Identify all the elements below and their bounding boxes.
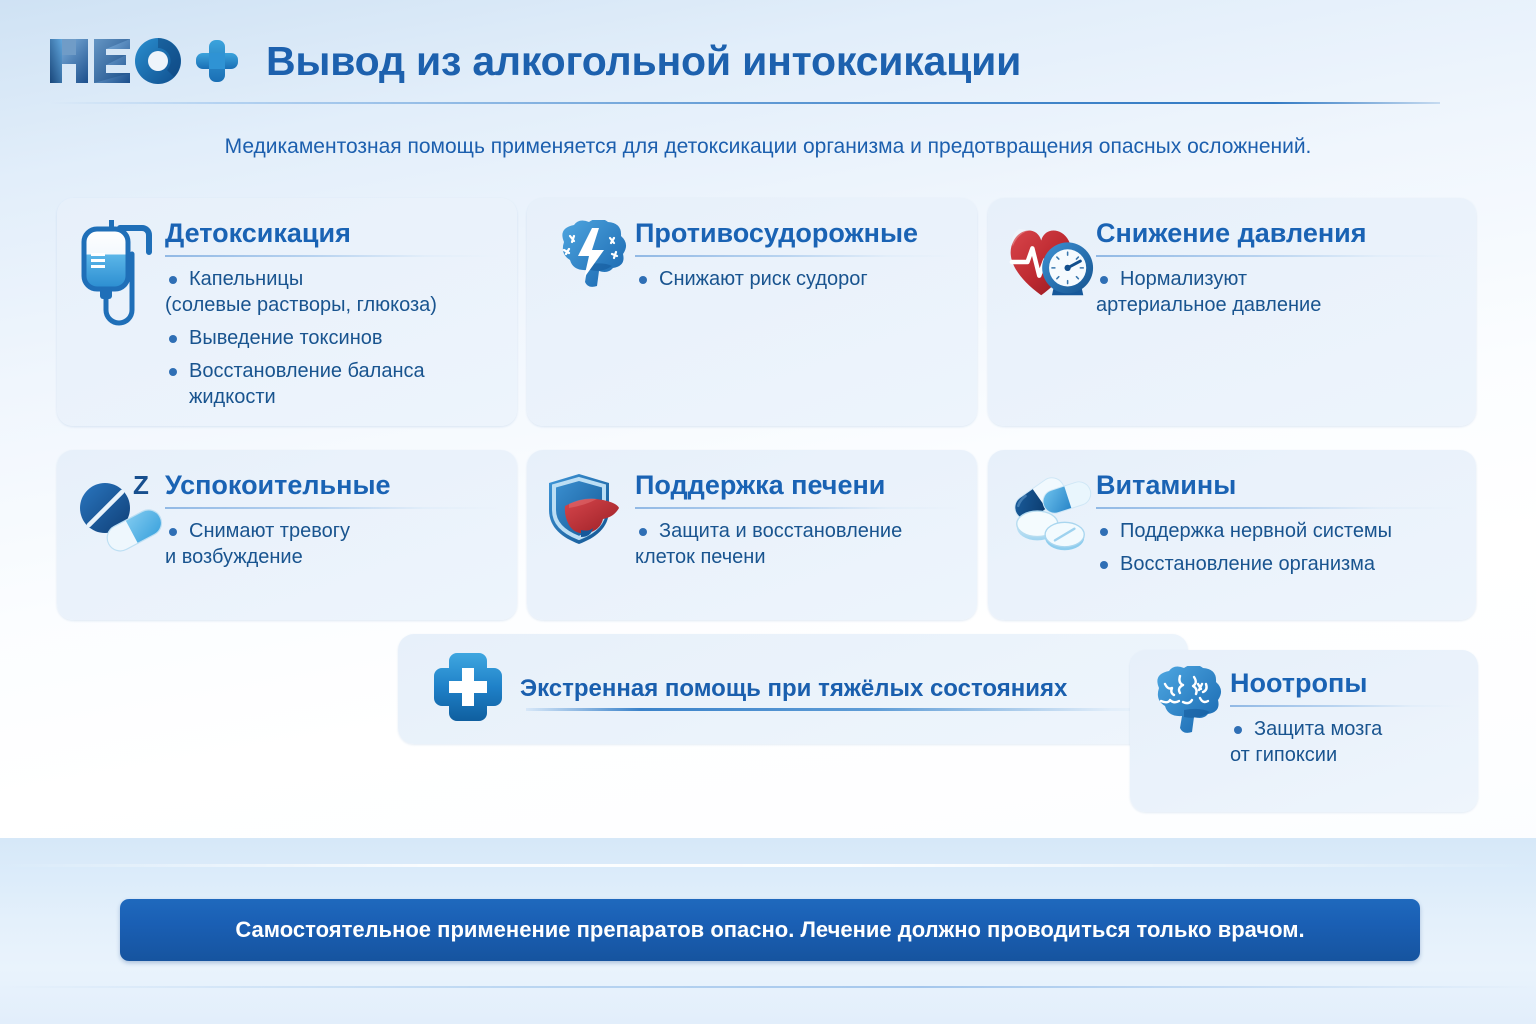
brain-icon	[1138, 664, 1230, 800]
pill-capsule-sleep-icon: Z	[73, 466, 165, 606]
vitamin-pills-icon	[1004, 466, 1096, 606]
card-vitamins[interactable]: Витамины Поддержка нервной системы Восст…	[988, 450, 1476, 620]
card-liver-support[interactable]: Поддержка печени Защита и восстановление…	[527, 450, 977, 620]
list-item: Восстановление организма	[1096, 551, 1458, 577]
list-item: Выведение токсинов	[165, 325, 499, 351]
card-bullet-list: Капельницы (солевые растворы, глюкоза) В…	[165, 266, 499, 410]
list-item: Снимают тревогу и возбуждение	[165, 518, 499, 570]
header-divider	[50, 102, 1440, 104]
bullet-text: Капельницы	[189, 268, 303, 290]
emergency-help-text: Экстренная помощь при тяжёлых состояниях	[520, 675, 1067, 703]
list-item: Нормализуют артериальное давление	[1096, 266, 1458, 318]
card-title: Противосудорожные	[635, 218, 959, 248]
medical-cross-icon	[432, 651, 504, 728]
neo-plus-logo	[50, 33, 240, 89]
bullet-text: Поддержка нервной системы	[1120, 520, 1392, 542]
svg-text:Z: Z	[133, 472, 149, 500]
card-bullet-list: Снижают риск судорог	[635, 266, 959, 292]
iv-drip-icon	[73, 214, 165, 412]
card-title: Детоксикация	[165, 218, 499, 248]
title-divider	[1230, 705, 1462, 707]
list-item: Восстановление баланса жидкости	[165, 358, 499, 410]
card-title: Витамины	[1096, 470, 1458, 500]
bullet-subtext: (солевые растворы, глюкоза)	[165, 292, 499, 318]
card-title: Снижение давления	[1096, 218, 1458, 248]
bullet-subtext: клеток печени	[635, 544, 959, 570]
page-subtitle: Медикаментозная помощь применяется для д…	[0, 135, 1536, 159]
list-item: Поддержка нервной системы	[1096, 518, 1458, 544]
card-bullet-list: Нормализуют артериальное давление	[1096, 266, 1458, 318]
bullet-text: Выведение токсинов	[189, 327, 383, 349]
card-detoxification[interactable]: Детоксикация Капельницы (солевые раствор…	[57, 198, 517, 426]
title-divider	[635, 255, 959, 257]
card-bullet-list: Защита и восстановление клеток печени	[635, 518, 959, 570]
card-bullet-list: Защита мозга от гипоксии	[1230, 716, 1462, 768]
bullet-text: Защита и восстановление	[659, 520, 902, 542]
title-divider	[165, 507, 499, 509]
heart-pressure-gauge-icon	[1004, 214, 1096, 412]
list-item: Капельницы (солевые растворы, глюкоза)	[165, 266, 499, 318]
band-highlight-top	[0, 864, 1536, 867]
page-header: Вывод из алкогольной интоксикации	[50, 22, 1486, 100]
bullet-subtext: артериальное давление	[1096, 292, 1458, 318]
list-item: Снижают риск судорог	[635, 266, 959, 292]
band-highlight-bottom	[0, 986, 1536, 988]
brain-lightning-icon	[543, 214, 635, 412]
bullet-subtext: от гипоксии	[1230, 742, 1462, 768]
title-divider	[165, 255, 499, 257]
title-divider	[1096, 507, 1458, 509]
warning-banner: Самостоятельное применение препаратов оп…	[120, 899, 1420, 961]
bullet-text: Восстановление организма	[1120, 553, 1375, 575]
page-title: Вывод из алкогольной интоксикации	[266, 38, 1021, 85]
card-title: Поддержка печени	[635, 470, 959, 500]
bullet-text: Восстановление баланса жидкости	[189, 360, 425, 408]
warning-banner-text: Самостоятельное применение препаратов оп…	[235, 917, 1304, 943]
title-divider	[635, 507, 959, 509]
list-item: Защита мозга от гипоксии	[1230, 716, 1462, 768]
bullet-text: Нормализуют	[1120, 268, 1247, 290]
card-blood-pressure[interactable]: Снижение давления Нормализуют артериальн…	[988, 198, 1476, 426]
neo-plus-logo-mark	[50, 33, 240, 89]
bullet-text: Защита мозга	[1254, 718, 1382, 740]
bullet-text: Снимают тревогу	[189, 520, 350, 542]
bullet-text: Снижают риск судорог	[659, 268, 868, 290]
bullet-subtext: и возбуждение	[165, 544, 499, 570]
shield-liver-icon	[543, 466, 635, 606]
emergency-help-banner[interactable]: Экстренная помощь при тяжёлых состояниях	[398, 634, 1188, 744]
card-nootropics[interactable]: Ноотропы Защита мозга от гипоксии	[1130, 650, 1478, 812]
card-title: Ноотропы	[1230, 668, 1462, 698]
card-title: Успокоительные	[165, 470, 499, 500]
title-divider	[1096, 255, 1458, 257]
card-sedatives[interactable]: Z Успокоительные Снимают тревогу и возбу…	[57, 450, 517, 620]
card-bullet-list: Снимают тревогу и возбуждение	[165, 518, 499, 570]
list-item: Защита и восстановление клеток печени	[635, 518, 959, 570]
emergency-divider	[526, 708, 1162, 711]
card-bullet-list: Поддержка нервной системы Восстановление…	[1096, 518, 1458, 577]
card-anticonvulsants[interactable]: Противосудорожные Снижают риск судорог	[527, 198, 977, 426]
